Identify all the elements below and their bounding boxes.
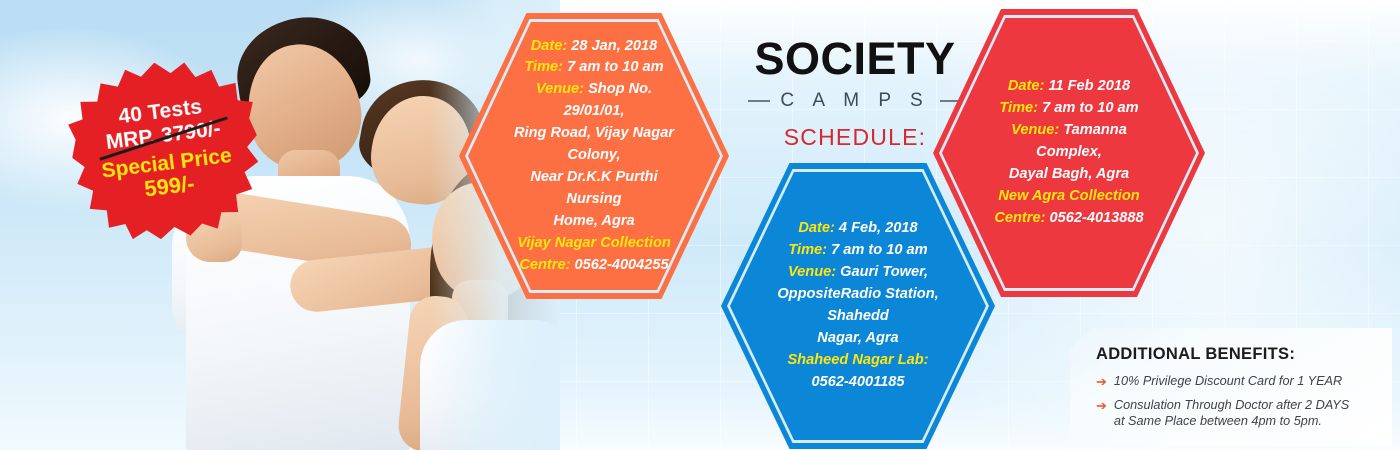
benefit-text-line-2: at Same Place between 4pm to 5pm.	[1114, 414, 1322, 428]
venue-label: Venue:	[536, 81, 588, 97]
camp-details-shaheed-nagar: Date: 4 Feb, 2018 Time: 7 am to 10 am Ve…	[730, 172, 986, 440]
camp-card-vijay-nagar[interactable]: Date: 28 Jan, 2018 Time: 7 am to 10 am V…	[468, 22, 720, 290]
time-label: Time:	[524, 59, 567, 75]
camp-time-row: Time: 7 am to 10 am	[788, 240, 927, 262]
banner-title-block: SOCIETY C A M P S SCHEDULE:	[735, 36, 975, 151]
time-label: Time:	[999, 100, 1042, 116]
camp-venue-row: Venue: Tamanna Complex,	[980, 120, 1158, 164]
benefit-item: ➔ 10% Privilege Discount Card for 1 YEAR	[1096, 373, 1376, 391]
camp-card-shaheed-nagar[interactable]: Date: 4 Feb, 2018 Time: 7 am to 10 am Ve…	[730, 172, 986, 440]
camp-date-row: Date: 4 Feb, 2018	[798, 218, 917, 240]
camp-date-row: Date: 11 Feb 2018	[1008, 76, 1130, 98]
centre-name: Vijay Nagar Collection	[517, 233, 671, 255]
venue-line-2: Dayal Bagh, Agra	[1009, 164, 1129, 186]
centre-name: New Agra Collection	[998, 186, 1139, 208]
time-value: 7 am to 10 am	[567, 59, 664, 75]
promo-banner: 40 Tests MRP. 3790/- Special Price 599/-…	[0, 0, 1400, 450]
date-value: 11 Feb 2018	[1048, 78, 1130, 94]
arrow-right-icon: ➔	[1096, 397, 1107, 415]
phone-number: 0562-4001185	[811, 372, 904, 394]
date-label: Date:	[798, 220, 839, 236]
camp-venue-row: Venue: Gauri Tower,	[788, 262, 928, 284]
camp-time-row: Time: 7 am to 10 am	[999, 98, 1138, 120]
centre-label: Centre:	[994, 210, 1049, 226]
time-label: Time:	[788, 242, 831, 258]
date-value: 4 Feb, 2018	[839, 220, 918, 236]
phone-number: 0562-4004255	[575, 257, 669, 273]
additional-benefits-panel: ADDITIONAL BENEFITS: ➔ 10% Privilege Dis…	[1070, 328, 1392, 446]
banner-subtitle: C A M P S	[780, 90, 929, 112]
date-label: Date:	[531, 38, 572, 54]
venue-line-3: Near Dr.K.K Purthi Nursing	[506, 167, 682, 211]
date-label: Date:	[1008, 78, 1049, 94]
date-value: 28 Jan, 2018	[571, 38, 657, 54]
venue-line-3: Nagar, Agra	[817, 328, 898, 350]
venue-line-2: Ring Road, Vijay Nagar Colony,	[506, 123, 682, 167]
subtitle-row: C A M P S	[735, 90, 975, 112]
venue-label: Venue:	[1011, 122, 1063, 138]
time-value: 7 am to 10 am	[831, 242, 928, 258]
dash-left-icon	[748, 100, 770, 102]
benefit-text-line-1: Consulation Through Doctor after 2 DAYS	[1114, 398, 1349, 412]
camp-phone-row: Centre: 0562-4013888	[994, 208, 1143, 230]
benefits-title: ADDITIONAL BENEFITS:	[1096, 345, 1376, 364]
venue-line-1: Gauri Tower,	[840, 264, 928, 280]
camp-phone-row: Centre: 0562-4004255	[519, 255, 668, 277]
arrow-right-icon: ➔	[1096, 373, 1107, 391]
venue-line-2: OppositeRadio Station, Shahedd	[768, 284, 948, 328]
camp-details-vijay-nagar: Date: 28 Jan, 2018 Time: 7 am to 10 am V…	[468, 22, 720, 290]
phone-number: 0562-4013888	[1050, 210, 1144, 226]
centre-label: Centre:	[519, 257, 574, 273]
page-title: SOCIETY	[735, 36, 975, 81]
benefit-text: 10% Privilege Discount Card for 1 YEAR	[1114, 373, 1342, 390]
venue-line-4: Home, Agra	[553, 211, 634, 233]
centre-name: Shaheed Nagar Lab:	[787, 350, 928, 372]
benefit-item: ➔ Consulation Through Doctor after 2 DAY…	[1096, 397, 1376, 431]
time-value: 7 am to 10 am	[1042, 100, 1139, 116]
camp-time-row: Time: 7 am to 10 am	[524, 57, 663, 79]
badge-special-price-value: 599/-	[143, 172, 196, 203]
camp-venue-row: Venue: Shop No. 29/01/01,	[506, 79, 682, 123]
camp-date-row: Date: 28 Jan, 2018	[531, 36, 658, 58]
venue-label: Venue:	[788, 264, 840, 280]
benefit-text: Consulation Through Doctor after 2 DAYS …	[1114, 397, 1349, 431]
